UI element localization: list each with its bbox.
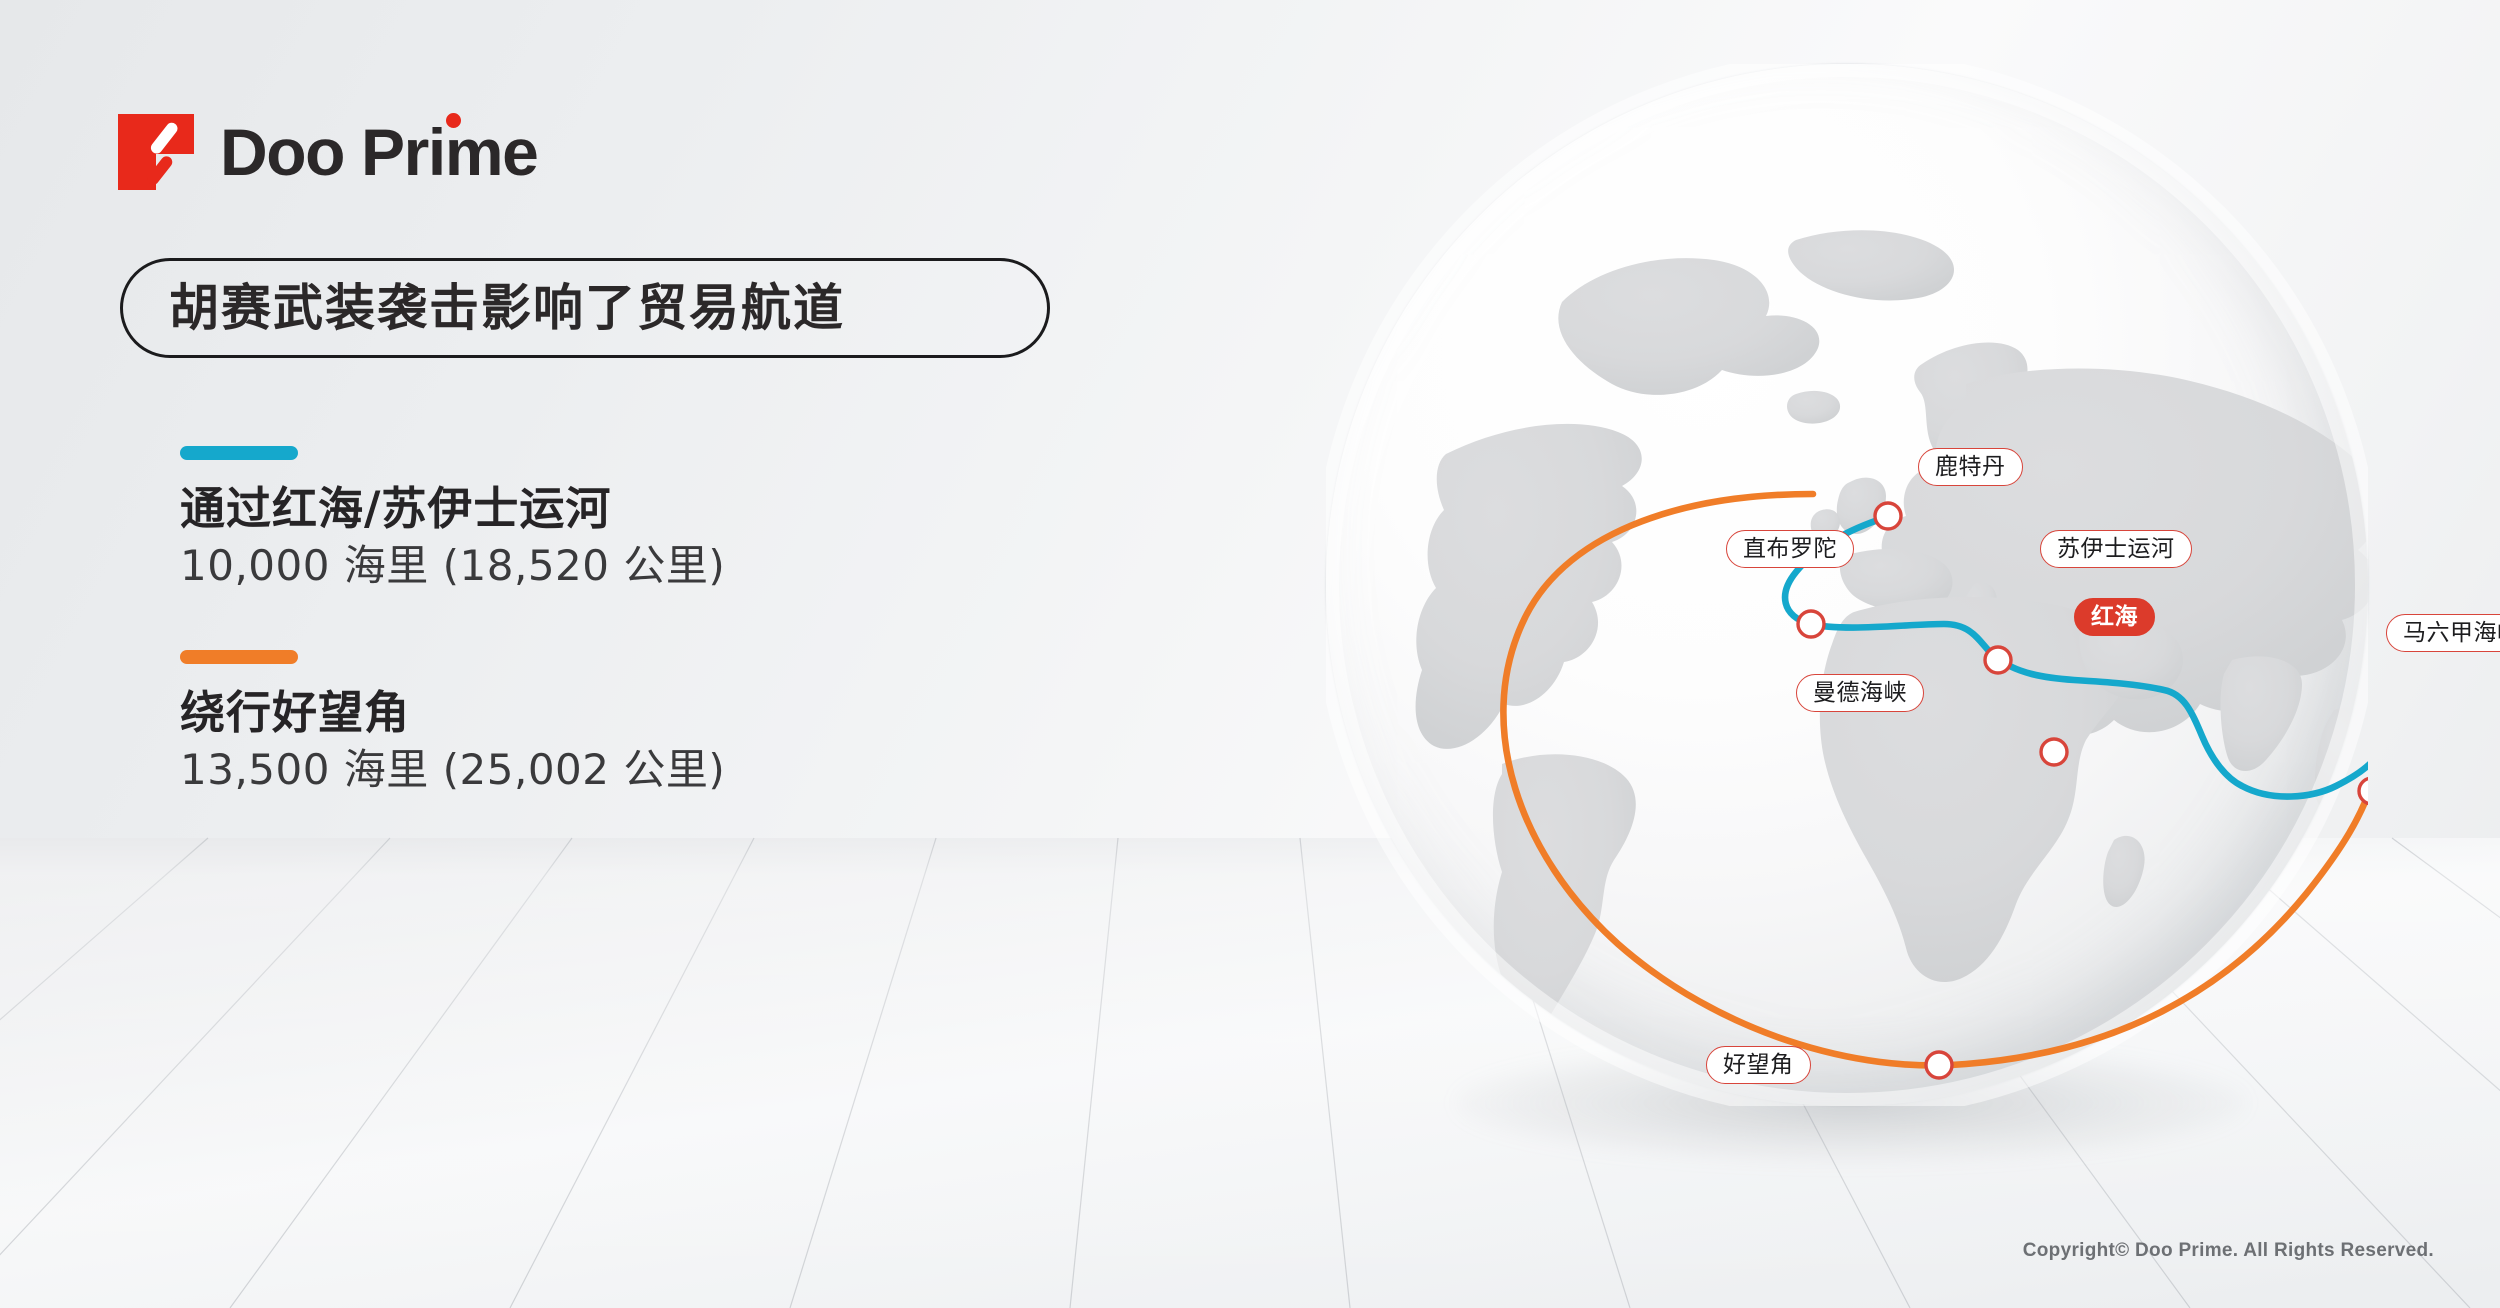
- marker-cape-of-good-hope: [1926, 1052, 1952, 1078]
- doo-prime-mark-icon: [118, 114, 194, 190]
- marker-gibraltar: [1798, 611, 1824, 637]
- map-label-bab-el-mandeb[interactable]: 曼德海峡: [1796, 674, 1924, 712]
- map-label-gibraltar[interactable]: 直布罗陀: [1726, 530, 1854, 568]
- legend-color-swatch-cape: [180, 650, 298, 664]
- copyright-notice: Copyright© Doo Prime. All Rights Reserve…: [2023, 1240, 2434, 1262]
- map-label-suez-canal[interactable]: 苏伊士运河: [2040, 530, 2192, 568]
- marker-bab-el-mandeb: [2041, 739, 2067, 765]
- brand-wordmark-text: Doo Prime: [220, 119, 537, 185]
- legend-title-cape: 绕行好望角: [180, 688, 725, 738]
- marker-rotterdam: [1875, 503, 1901, 529]
- legend-value-cape: 13,500 海里 (25,002 公里): [180, 746, 725, 794]
- brand-logo: Doo Prime: [118, 114, 537, 190]
- legend-item-suez: 通过红海/苏伊士运河 10,000 海里 (18,520 公里): [180, 446, 725, 591]
- marker-suez-canal: [1985, 647, 2011, 673]
- brand-wordmark: Doo Prime: [220, 119, 537, 185]
- left-content-panel: Doo Prime 胡赛武装袭击影响了贸易航道 通过红海/苏伊士运河 10,00…: [0, 0, 1180, 1308]
- map-label-red-sea[interactable]: 红海: [2074, 598, 2155, 636]
- headline-pill: 胡赛武装袭击影响了贸易航道: [120, 258, 1050, 358]
- wordmark-dot-icon: [446, 113, 461, 128]
- map-label-cape-of-good-hope[interactable]: 好望角: [1706, 1046, 1811, 1084]
- headline-text: 胡赛武装袭击影响了贸易航道: [169, 283, 845, 333]
- map-label-rotterdam[interactable]: 鹿特丹: [1918, 448, 2023, 486]
- infographic-canvas: 鹿特丹 直布罗陀 苏伊士运河 红海 曼德海峡 马六甲海峡 好望角 Doo Pri…: [0, 0, 2500, 1308]
- legend-title-suez: 通过红海/苏伊士运河: [180, 484, 725, 534]
- globe: 鹿特丹 直布罗陀 苏伊士运河 红海 曼德海峡 马六甲海峡 好望角: [1326, 64, 2368, 1106]
- legend-color-swatch-suez: [180, 446, 298, 460]
- map-label-malacca[interactable]: 马六甲海峡: [2386, 614, 2500, 652]
- legend-item-cape: 绕行好望角 13,500 海里 (25,002 公里): [180, 650, 725, 795]
- legend-value-suez: 10,000 海里 (18,520 公里): [180, 542, 725, 590]
- globe-map-svg: [1326, 64, 2368, 1106]
- marker-malacca: [2359, 778, 2368, 804]
